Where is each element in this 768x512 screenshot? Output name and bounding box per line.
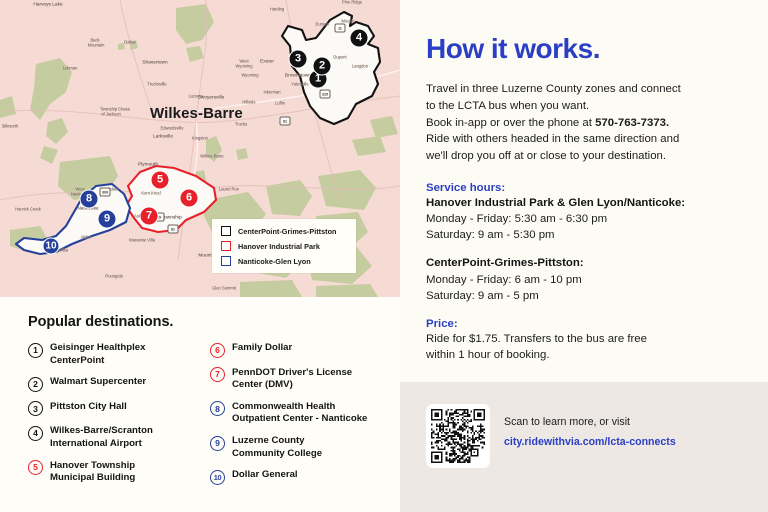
- destination-number-badge: 7: [210, 367, 225, 382]
- map-town-label: Mountain: [88, 43, 105, 48]
- spacer: [426, 304, 738, 318]
- destination-label: Wilkes-Barre/ScrantonInternational Airpo…: [50, 425, 153, 450]
- map-marker-9[interactable]: 9: [98, 210, 117, 229]
- map-town-label: Alden: [81, 235, 91, 240]
- price-heading: Price:: [426, 318, 738, 330]
- destination-item: 3Pittston City Hall: [28, 401, 204, 417]
- map-city-label: Wilkes-Barre: [150, 105, 243, 122]
- map-town-label: Edwardsville: [161, 126, 184, 131]
- legend-label: Hanover Industrial Park: [238, 242, 320, 251]
- map-town-label: Swoyersville: [198, 96, 225, 101]
- how-it-works-title: How it works.: [426, 33, 738, 65]
- intro-line-2: to the LCTA bus when you want.: [426, 100, 589, 112]
- destination-number-badge: 6: [210, 343, 225, 358]
- map-marker-8[interactable]: 8: [80, 190, 99, 209]
- map-town-label: Larksville: [153, 135, 173, 140]
- zone-1-name: Hanover Industrial Park & Glen Lyon/Nant…: [426, 195, 738, 211]
- qr-link[interactable]: city.ridewithvia.com/lcta-connects: [504, 436, 676, 448]
- destination-label: Hanover TownshipMunicipal Building: [50, 460, 135, 485]
- destination-number-badge: 1: [28, 343, 43, 358]
- destination-label: PennDOT Driver's LicenseCenter (DMV): [232, 367, 352, 392]
- qr-code-band: Scan to learn more, or visit city.ridewi…: [400, 382, 768, 512]
- map-marker-4[interactable]: 4: [350, 29, 369, 48]
- intro-paragraph: Travel in three Luzerne County zones and…: [426, 81, 738, 165]
- map-marker-3[interactable]: 3: [289, 50, 308, 69]
- spacer: [426, 243, 738, 255]
- destination-number-badge: 8: [210, 401, 225, 416]
- map-town-label: Kingston: [192, 136, 208, 141]
- legend-swatch-black-icon: [221, 226, 231, 236]
- map-town-label: Harding: [270, 7, 284, 12]
- destination-number-badge: 10: [210, 470, 225, 485]
- destination-number-badge: 3: [28, 401, 43, 416]
- map-town-label: Brownstown: [285, 74, 311, 79]
- legend-item-centerpoint: CenterPoint-Grimes-Pittston: [221, 226, 348, 236]
- zone-1-weekday-hours: Monday - Friday: 5:30 am - 6:30 pm: [426, 211, 738, 227]
- map-town-label: Harveys Lake: [33, 3, 62, 8]
- destination-item: 2Walmart Supercenter: [28, 376, 204, 392]
- legend-item-nanticoke: Nanticoke-Glen Lyon: [221, 256, 348, 266]
- map-town-label: Lehman: [63, 66, 78, 71]
- map-town-label: Dupont: [333, 55, 346, 60]
- destination-number-badge: 4: [28, 426, 43, 441]
- map-marker-6[interactable]: 6: [180, 189, 199, 208]
- flyer-page: Harveys LakeBackMountainDallasLehmanShav…: [0, 0, 768, 512]
- map-marker-7[interactable]: 7: [140, 207, 159, 226]
- intro-line-1: Travel in three Luzerne County zones and…: [426, 83, 681, 95]
- legend-item-hanover: Hanover Industrial Park: [221, 241, 348, 251]
- qr-text-block: Scan to learn more, or visit city.ridewi…: [504, 416, 676, 450]
- destination-item: 8Commonwealth HealthOutpatient Center - …: [210, 401, 386, 426]
- legend-label: Nanticoke-Glen Lyon: [238, 257, 311, 266]
- map-town-label: Exeter: [260, 60, 274, 65]
- map-town-label: Harvick Creek: [15, 207, 41, 212]
- map-town-label: Silkworth: [2, 124, 19, 129]
- map-town-label: Wilkes-Barre: [200, 154, 223, 159]
- map-marker-2[interactable]: 2: [313, 57, 332, 76]
- destination-label: Geisinger HealthplexCenterPoint: [50, 342, 145, 367]
- qr-code-icon: [431, 409, 485, 463]
- service-hours-heading: Service hours:: [426, 182, 738, 194]
- map-town-label: Duryea: [315, 22, 328, 27]
- destination-label: Luzerne CountyCommunity College: [232, 435, 322, 460]
- legend-label: CenterPoint-Grimes-Pittston: [238, 227, 337, 236]
- map-town-label: Laurel Run: [219, 187, 239, 192]
- destination-number-badge: 5: [28, 460, 43, 475]
- right-column: How it works. Travel in three Luzerne Co…: [400, 0, 768, 512]
- map-town-label: of Jackson: [101, 112, 121, 117]
- left-column: Harveys LakeBackMountainDallasLehmanShav…: [0, 0, 400, 512]
- map-town-label: Korn Kreel: [141, 191, 160, 196]
- qr-scan-text: Scan to learn more, or visit: [504, 416, 676, 428]
- map-town-label: Plymouth: [138, 163, 158, 168]
- map-town-label: Trucks: [235, 122, 247, 127]
- intro-line-3: Book in-app or over the phone at: [426, 117, 595, 129]
- destinations-columns: 1Geisinger HealthplexCenterPoint2Walmart…: [28, 342, 386, 494]
- map-legend: CenterPoint-Grimes-Pittston Hanover Indu…: [212, 219, 356, 273]
- destination-item: 10Dollar General: [210, 469, 386, 485]
- how-it-works-section: How it works. Travel in three Luzerne Co…: [400, 0, 768, 363]
- destination-label: Family Dollar: [232, 342, 292, 355]
- map-route-shield-icon: 11: [335, 24, 346, 33]
- map-route-shield-icon: 81: [280, 117, 291, 126]
- map-route-shield-icon: 315: [320, 90, 331, 99]
- destination-label: Commonwealth HealthOutpatient Center - N…: [232, 401, 367, 426]
- map-town-label: Wyoming: [235, 64, 252, 69]
- map-town-label: Inkerman: [263, 90, 280, 95]
- destination-item: 9Luzerne CountyCommunity College: [210, 435, 386, 460]
- map-marker-5[interactable]: 5: [151, 171, 170, 190]
- destination-number-badge: 2: [28, 377, 43, 392]
- destination-item: 5Hanover TownshipMunicipal Building: [28, 460, 204, 485]
- price-line-1: Ride for $1.75. Transfers to the bus are…: [426, 331, 738, 347]
- service-area-map[interactable]: Harveys LakeBackMountainDallasLehmanShav…: [0, 0, 400, 297]
- destination-item: 7PennDOT Driver's LicenseCenter (DMV): [210, 367, 386, 392]
- map-town-label: Pine Ridge: [342, 0, 362, 5]
- zone-2-saturday-hours: Saturday: 9 am - 5 pm: [426, 288, 738, 304]
- destination-label: Pittston City Hall: [50, 401, 127, 414]
- destination-label: Walmart Supercenter: [50, 376, 146, 389]
- map-marker-10[interactable]: 10: [43, 238, 60, 255]
- popular-destinations-title: Popular destinations.: [28, 314, 386, 330]
- map-route-shield-icon: 309: [100, 188, 111, 197]
- destinations-column-right: 6Family Dollar7PennDOT Driver's LicenseC…: [210, 342, 386, 494]
- popular-destinations-section: Popular destinations. 1Geisinger Healthp…: [0, 297, 400, 512]
- qr-code-container[interactable]: [426, 404, 490, 468]
- destination-number-badge: 9: [210, 436, 225, 451]
- map-town-label: Langdon: [352, 64, 368, 69]
- map-town-label: Shavertown: [142, 61, 167, 66]
- legend-swatch-red-icon: [221, 241, 231, 251]
- destination-item: 6Family Dollar: [210, 342, 386, 358]
- map-town-label: Dallas: [124, 40, 135, 45]
- destination-label: Dollar General: [232, 469, 298, 482]
- map-town-label: Luflin: [275, 101, 285, 106]
- legend-swatch-blue-icon: [221, 256, 231, 266]
- destination-item: 1Geisinger HealthplexCenterPoint: [28, 342, 204, 367]
- map-town-label: Yatesville: [291, 82, 308, 87]
- map-town-label: Wilka: [58, 248, 68, 253]
- map-town-label: Hillside: [242, 100, 255, 105]
- intro-line-5: we'll drop you off at or close to your d…: [426, 150, 666, 162]
- map-route-shield-icon: 81: [168, 225, 179, 234]
- intro-line-4: Ride with others headed in the same dire…: [426, 133, 679, 145]
- map-town-label: Glen Summit: [212, 286, 236, 291]
- map-town-label: Roungola: [105, 274, 123, 279]
- zone-2-weekday-hours: Monday - Friday: 6 am - 10 pm: [426, 272, 738, 288]
- zone-2-name: CenterPoint-Grimes-Pittston:: [426, 255, 738, 271]
- price-line-2: within 1 hour of booking.: [426, 347, 738, 363]
- zone-1-saturday-hours: Saturday: 9 am - 5:30 pm: [426, 227, 738, 243]
- booking-phone-number: 570-763-7373.: [595, 117, 669, 129]
- map-town-label: Mount: [198, 254, 211, 259]
- destinations-column-left: 1Geisinger HealthplexCenterPoint2Walmart…: [28, 342, 204, 494]
- map-town-label: Trucksville: [147, 82, 166, 87]
- map-town-label: Wyoming: [241, 73, 258, 78]
- destination-item: 4Wilkes-Barre/ScrantonInternational Airp…: [28, 425, 204, 450]
- map-town-label: Wanamie Villa: [129, 238, 155, 243]
